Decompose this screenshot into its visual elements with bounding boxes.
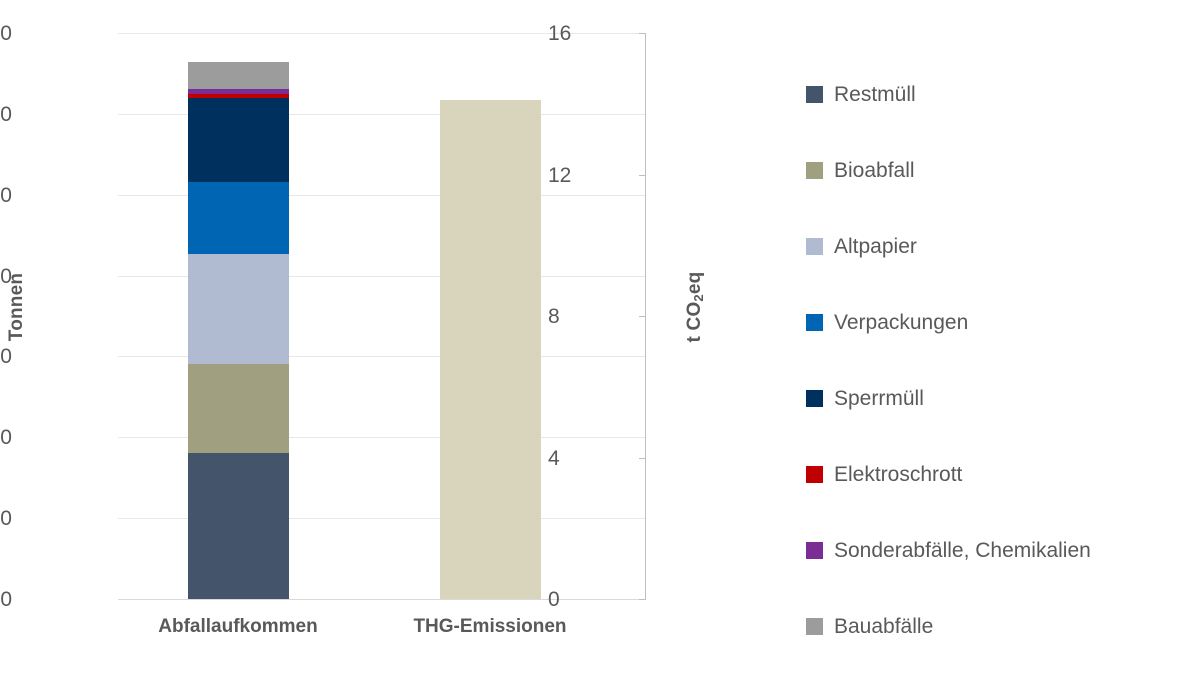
legend-item-label: Sonderabfälle, Chemikalien (834, 540, 1091, 561)
legend-item-label: Sperrmüll (834, 388, 924, 409)
legend-swatch-icon (806, 162, 823, 179)
y-axis-left-tick-label: 600 (0, 104, 12, 125)
y-axis-left-tick-label: 200 (0, 427, 12, 448)
legend-item[interactable]: Sonderabfälle, Chemikalien (806, 512, 1196, 588)
legend-item[interactable]: Verpackungen (806, 284, 1196, 360)
bar-segment-bauabf-lle[interactable] (188, 62, 289, 89)
category-label-abfallaufkommen: Abfallaufkommen (108, 616, 368, 638)
y-axis-right-tick-label: 12 (548, 165, 628, 186)
right-axis-tick-mark (639, 599, 646, 600)
bar-segment-verpackungen[interactable] (188, 182, 289, 254)
y-axis-right-title: t CO2eq (684, 262, 706, 352)
legend-item-label: Bioabfall (834, 160, 915, 181)
bar-segment-elektroschrott[interactable] (188, 94, 289, 98)
legend-item[interactable]: Bauabfälle (806, 588, 1196, 664)
category-label-thg-emissionen: THG-Emissionen (360, 616, 620, 638)
y-axis-right-tick-label: 4 (548, 448, 628, 469)
y-axis-left-tick-label: 700 (0, 23, 12, 44)
y-axis-left-tick-label: 300 (0, 346, 12, 367)
right-axis-tick-mark (639, 458, 646, 459)
legend-swatch-icon (806, 618, 823, 635)
y-axis-right-tick-label: 8 (548, 306, 628, 327)
y-axis-left-tick-label: 500 (0, 185, 12, 206)
right-axis-tick-mark (639, 33, 646, 34)
right-axis-tick-mark (639, 175, 646, 176)
legend-swatch-icon (806, 542, 823, 559)
y-axis-right-title-suffix: eq (684, 272, 705, 295)
legend-item-label: Elektroschrott (834, 464, 962, 485)
legend-swatch-icon (806, 86, 823, 103)
right-axis-tick-mark (639, 316, 646, 317)
legend-item-label: Verpackungen (834, 312, 968, 333)
legend-item-label: Bauabfälle (834, 616, 933, 637)
y-axis-right-tick-label: 16 (548, 23, 628, 44)
legend-item[interactable]: Restmüll (806, 56, 1196, 132)
legend-swatch-icon (806, 238, 823, 255)
bar-thg-emissionen[interactable] (440, 33, 541, 599)
bar-segment-altpapier[interactable] (188, 254, 289, 364)
legend-swatch-icon (806, 314, 823, 331)
y-axis-left-tick-label: 0 (0, 589, 12, 610)
waste-emissions-chart: Tonnen t CO2eq 0100200300400500600700 04… (0, 0, 1200, 692)
y-axis-left-tick-label: 400 (0, 266, 12, 287)
legend-swatch-icon (806, 390, 823, 407)
y-axis-right-title-prefix: t CO (684, 302, 705, 343)
y-axis-left-tick-label: 100 (0, 508, 12, 529)
bar-segment-sonderabf-lle-chemikalien[interactable] (188, 89, 289, 95)
bar-segment-sperrm-ll[interactable] (188, 98, 289, 181)
bar-segment-bioabfall[interactable] (188, 364, 289, 454)
bar-abfallaufkommen[interactable] (188, 33, 289, 599)
bar-segment-restm-ll[interactable] (188, 453, 289, 599)
legend-item[interactable]: Sperrmüll (806, 360, 1196, 436)
legend-item-label: Altpapier (834, 236, 917, 257)
legend-item-label: Restmüll (834, 84, 916, 105)
bar-segment-thg-gesamt[interactable] (440, 100, 541, 599)
y-axis-right-tick-label: 0 (548, 589, 628, 610)
y-axis-right-title-subscript: 2 (691, 294, 706, 301)
legend-item[interactable]: Elektroschrott (806, 436, 1196, 512)
legend: RestmüllBioabfallAltpapierVerpackungenSp… (806, 56, 1196, 664)
legend-item[interactable]: Altpapier (806, 208, 1196, 284)
legend-swatch-icon (806, 466, 823, 483)
legend-item[interactable]: Bioabfall (806, 132, 1196, 208)
